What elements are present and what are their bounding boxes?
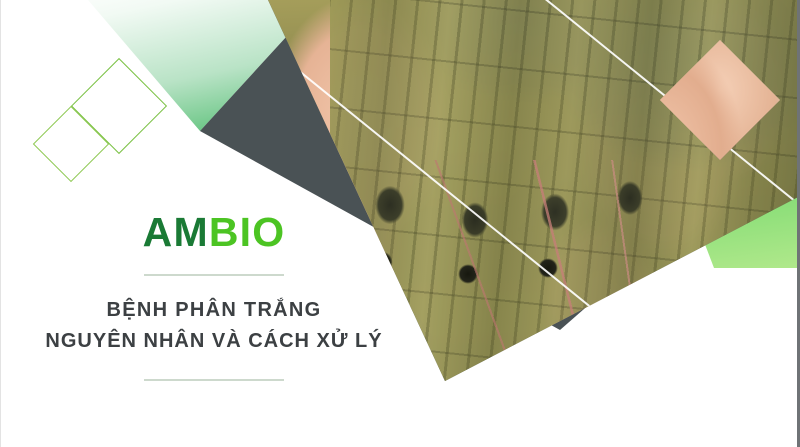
divider-bottom: [144, 379, 284, 381]
headline-line-2: NGUYÊN NHÂN VÀ CÁCH XỬ LÝ: [14, 326, 414, 357]
headline-line-1: BỆNH PHÂN TRẮNG: [106, 299, 321, 321]
left-border-edge: [0, 0, 1, 447]
ambio-banner: AMBIO BỆNH PHÂN TRẮNG NGUYÊN NHÂN VÀ CÁC…: [0, 0, 800, 447]
brand-logo: AMBIO: [14, 212, 414, 253]
headline: BỆNH PHÂN TRẮNG NGUYÊN NHÂN VÀ CÁCH XỬ L…: [14, 295, 414, 357]
divider-top: [144, 274, 284, 276]
brand-part-am: AM: [143, 209, 209, 255]
text-block: AMBIO BỆNH PHÂN TRẮNG NGUYÊN NHÂN VÀ CÁC…: [14, 212, 414, 381]
brand-part-bio: BIO: [209, 209, 286, 255]
